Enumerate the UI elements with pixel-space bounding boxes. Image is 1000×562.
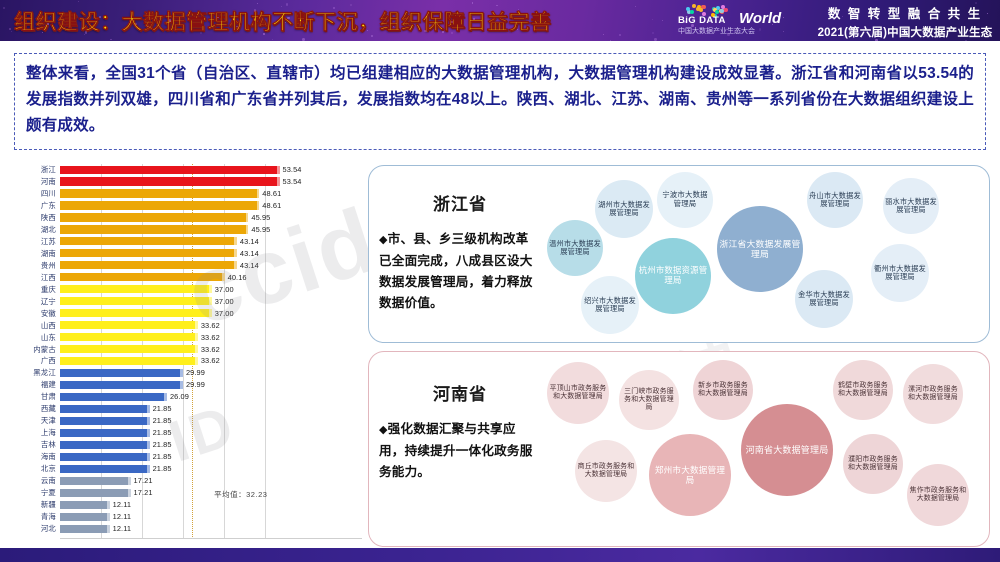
chart-bar [60, 249, 237, 257]
chart-bar [60, 525, 110, 533]
chart-category-label: 江西 [12, 272, 56, 284]
chart-value-label: 21.85 [153, 451, 172, 463]
chart-bar-row: 新疆12.11 [60, 499, 362, 511]
chart-bar [60, 513, 110, 521]
chart-bar [60, 369, 183, 377]
chart-bar-row: 河北12.11 [60, 523, 362, 535]
chart-bar [60, 225, 248, 233]
chart-value-label: 21.85 [153, 415, 172, 427]
chart-bar [60, 201, 259, 209]
chart-bar-row: 浙江53.54 [60, 164, 362, 176]
zhejiang-text-block: 浙江省 ◆市、县、乡三级机构改革已全面完成，八成县区设大数据发展管理局，着力释放… [369, 166, 551, 342]
chart-value-label: 33.62 [201, 355, 220, 367]
chart-category-label: 新疆 [12, 499, 56, 511]
zhejiang-bubble: 浙江省大数据发展管理局 [717, 206, 803, 292]
chart-value-label: 21.85 [153, 463, 172, 475]
chart-value-label: 21.85 [153, 439, 172, 451]
henan-title: 河南省 [379, 380, 541, 405]
chart-bar [60, 477, 131, 485]
henan-text-block: 河南省 ◆强化数据汇聚与共享应用，持续提升一体化政务服务能力。 [369, 352, 551, 546]
chart-value-label: 45.95 [251, 224, 270, 236]
zhejiang-bubble: 金华市大数据发展管理局 [795, 270, 853, 328]
chart-plot-area: 平均值：32.23浙江53.54河南53.54四川48.61广东48.61陕西4… [60, 164, 362, 539]
chart-value-label: 29.99 [186, 367, 205, 379]
chart-value-label: 17.21 [134, 475, 153, 487]
chart-bar [60, 393, 167, 401]
chart-category-label: 湖南 [12, 248, 56, 260]
chart-value-label: 12.11 [113, 511, 131, 523]
logo-world-text: World [739, 10, 781, 27]
zhejiang-bubble-cluster: 温州市大数据发展管理局湖州市大数据发展管理局绍兴市大数据发展管理局宁波市大数据管… [545, 166, 985, 342]
henan-bubble: 商丘市政务服务和大数据管理局 [575, 440, 637, 502]
chart-category-label: 陕西 [12, 212, 56, 224]
chart-category-label: 北京 [12, 463, 56, 475]
chart-bar-row: 重庆37.00 [60, 284, 362, 296]
chart-bar [60, 213, 248, 221]
zhejiang-bullet-icon: ◆ [379, 234, 388, 246]
chart-bar [60, 261, 237, 269]
zhejiang-bubble: 温州市大数据发展管理局 [547, 220, 603, 276]
conference-slogan: 数 智 转 型 融 合 共 生 [815, 3, 995, 22]
chart-bar-row: 云南17.21 [60, 475, 362, 487]
chart-bar-row: 山西33.62 [60, 320, 362, 332]
chart-category-label: 重庆 [12, 284, 56, 296]
henan-bubble: 河南省大数据管理局 [741, 404, 833, 496]
chart-bar-row: 天津21.85 [60, 415, 362, 427]
chart-bar [60, 273, 225, 281]
chart-bar-row: 甘肃26.09 [60, 391, 362, 403]
chart-category-label: 山东 [12, 332, 56, 344]
zhejiang-panel: 浙江省 ◆市、县、乡三级机构改革已全面完成，八成县区设大数据发展管理局，着力释放… [368, 165, 990, 343]
chart-category-label: 河北 [12, 523, 56, 535]
zhejiang-bubble: 舟山市大数据发展管理局 [807, 172, 863, 228]
chart-bar-row: 贵州43.14 [60, 260, 362, 272]
chart-category-label: 四川 [12, 188, 56, 200]
chart-category-label: 辽宁 [12, 296, 56, 308]
chart-bar [60, 501, 110, 509]
logo-sub-text: 中国大数据产业生态大会 [678, 26, 755, 36]
chart-category-label: 江苏 [12, 236, 56, 248]
chart-value-label: 17.21 [134, 487, 153, 499]
chart-category-label: 内蒙古 [12, 344, 56, 356]
chart-bar-row: 广西33.62 [60, 355, 362, 367]
chart-value-label: 37.00 [215, 284, 234, 296]
chart-value-label: 53.54 [283, 176, 302, 188]
chart-bar-row: 西藏21.85 [60, 403, 362, 415]
zhejiang-bubble: 绍兴市大数据发展管理局 [581, 276, 639, 334]
zhejiang-bubble: 丽水市大数据发展管理局 [883, 178, 939, 234]
chart-bar [60, 381, 183, 389]
chart-value-label: 48.61 [262, 200, 281, 212]
chart-bar-row: 山东33.62 [60, 332, 362, 344]
chart-value-label: 29.99 [186, 379, 205, 391]
chart-category-label: 广东 [12, 200, 56, 212]
chart-category-label: 上海 [12, 427, 56, 439]
chart-bar [60, 177, 280, 185]
chart-bar-row: 黑龙江29.99 [60, 367, 362, 379]
chart-category-label: 吉林 [12, 439, 56, 451]
summary-text: 整体来看，全国31个省（自治区、直辖市）均已组建相应的大数据管理机构，大数据管理… [26, 61, 974, 139]
chart-bar [60, 309, 212, 317]
henan-bubble: 新乡市政务服务和大数据管理局 [693, 360, 753, 420]
henan-bubble: 焦作市政务服务和大数据管理局 [907, 464, 969, 526]
chart-bar-row: 青海12.11 [60, 511, 362, 523]
conference-branding: 数 智 转 型 融 合 共 生 2021(第六届)中国大数据产业生态大会 [815, 3, 995, 41]
chart-category-label: 西藏 [12, 403, 56, 415]
henan-bubble: 三门峡市政务服务和大数据管理局 [619, 370, 679, 430]
chart-category-label: 河南 [12, 176, 56, 188]
chart-bar-row: 吉林21.85 [60, 439, 362, 451]
chart-value-label: 37.00 [215, 296, 234, 308]
chart-category-label: 安徽 [12, 308, 56, 320]
chart-category-label: 甘肃 [12, 391, 56, 403]
chart-bar [60, 441, 150, 449]
page-title: 组织建设：大数据管理机构不断下沉，组织保障日益完善 [14, 6, 552, 36]
chart-value-label: 21.85 [153, 427, 172, 439]
chart-value-label: 26.09 [170, 391, 189, 403]
chart-value-label: 40.16 [228, 272, 247, 284]
chart-bar [60, 405, 150, 413]
chart-bar [60, 297, 212, 305]
chart-value-label: 45.95 [251, 212, 270, 224]
chart-category-label: 云南 [12, 475, 56, 487]
henan-bubble: 郑州市大数据管理局 [649, 434, 731, 516]
henan-bubble: 平顶山市政务服务和大数据管理局 [547, 362, 609, 424]
zhejiang-bubble: 宁波市大数据管理局 [657, 172, 713, 228]
chart-category-label: 贵州 [12, 260, 56, 272]
zhejiang-description: ◆市、县、乡三级机构改革已全面完成，八成县区设大数据发展管理局，着力释放数据价值… [379, 229, 541, 314]
chart-bar [60, 453, 150, 461]
chart-category-label: 海南 [12, 451, 56, 463]
chart-category-label: 广西 [12, 355, 56, 367]
henan-bubble: 濮阳市政务服务和大数据管理局 [843, 434, 903, 494]
chart-bar-row: 安徽37.00 [60, 308, 362, 320]
chart-value-label: 33.62 [201, 332, 220, 344]
chart-bar-row: 陕西45.95 [60, 212, 362, 224]
chart-bar [60, 429, 150, 437]
chart-value-label: 37.00 [215, 308, 234, 320]
chart-bar-row: 上海21.85 [60, 427, 362, 439]
henan-bullet-icon: ◆ [379, 424, 388, 436]
chart-bar-row: 四川48.61 [60, 188, 362, 200]
chart-bar-row: 江西40.16 [60, 272, 362, 284]
henan-bubble: 鹤壁市政务服务和大数据管理局 [833, 360, 893, 420]
chart-value-label: 43.14 [240, 236, 259, 248]
zhejiang-body-text: 市、县、乡三级机构改革已全面完成，八成县区设大数据发展管理局，着力释放数据价值。 [379, 232, 533, 310]
henan-panel: 河南省 ◆强化数据汇聚与共享应用，持续提升一体化政务服务能力。 平顶山市政务服务… [368, 351, 990, 547]
zhejiang-bubble: 杭州市数据资源管理局 [635, 238, 711, 314]
chart-category-label: 浙江 [12, 164, 56, 176]
chart-category-label: 福建 [12, 379, 56, 391]
chart-bar-row: 河南53.54 [60, 176, 362, 188]
chart-bar-row: 湖北45.95 [60, 224, 362, 236]
henan-bubble: 漯河市政务服务和大数据管理局 [903, 364, 963, 424]
chart-bar [60, 345, 198, 353]
conference-name: 2021(第六届)中国大数据产业生态大会 [815, 24, 995, 41]
chart-bar [60, 417, 150, 425]
henan-description: ◆强化数据汇聚与共享应用，持续提升一体化政务服务能力。 [379, 419, 541, 483]
chart-value-label: 12.11 [113, 523, 131, 535]
chart-bar-row: 宁夏17.21 [60, 487, 362, 499]
chart-category-label: 湖北 [12, 224, 56, 236]
chart-bar [60, 166, 280, 174]
chart-bar [60, 489, 131, 497]
chart-bar-row: 湖南43.14 [60, 248, 362, 260]
chart-category-label: 青海 [12, 511, 56, 523]
chart-value-label: 53.54 [283, 164, 302, 176]
chart-value-label: 33.62 [201, 320, 220, 332]
bigdata-world-logo: BiG DATA World 中国大数据产业生态大会 [676, 4, 796, 38]
slide-page: 组织建设：大数据管理机构不断下沉，组织保障日益完善 BiG DATA World… [0, 0, 1000, 562]
summary-callout: 整体来看，全国31个省（自治区、直辖市）均已组建相应的大数据管理机构，大数据管理… [14, 53, 986, 150]
zhejiang-bubble: 湖州市大数据发展管理局 [595, 180, 653, 238]
chart-bar [60, 285, 212, 293]
chart-category-label: 天津 [12, 415, 56, 427]
chart-category-label: 山西 [12, 320, 56, 332]
chart-value-label: 48.61 [262, 188, 281, 200]
zhejiang-bubble: 衢州市大数据发展管理局 [871, 244, 929, 302]
chart-value-label: 43.14 [240, 260, 259, 272]
chart-category-label: 黑龙江 [12, 367, 56, 379]
chart-bar-row: 江苏43.14 [60, 236, 362, 248]
chart-value-label: 43.14 [240, 248, 259, 260]
chart-bar-row: 海南21.85 [60, 451, 362, 463]
chart-value-label: 21.85 [153, 403, 172, 415]
chart-value-label: 12.11 [113, 499, 131, 511]
chart-bar-row: 福建29.99 [60, 379, 362, 391]
henan-body-text: 强化数据汇聚与共享应用，持续提升一体化政务服务能力。 [379, 422, 533, 479]
chart-bar [60, 321, 198, 329]
chart-bar [60, 465, 150, 473]
chart-category-label: 宁夏 [12, 487, 56, 499]
chart-bar-row: 广东48.61 [60, 200, 362, 212]
chart-baseline [60, 538, 362, 539]
zhejiang-title: 浙江省 [379, 190, 541, 215]
chart-bar [60, 237, 237, 245]
chart-bar [60, 189, 259, 197]
slide-footer [0, 548, 1000, 562]
chart-bar-row: 辽宁37.00 [60, 296, 362, 308]
slide-header: 组织建设：大数据管理机构不断下沉，组织保障日益完善 BiG DATA World… [0, 0, 1000, 41]
province-index-bar-chart: 平均值：32.23浙江53.54河南53.54四川48.61广东48.61陕西4… [12, 160, 362, 545]
chart-value-label: 33.62 [201, 344, 220, 356]
chart-bar-row: 北京21.85 [60, 463, 362, 475]
chart-bar-row: 内蒙古33.62 [60, 344, 362, 356]
henan-bubble-cluster: 平顶山市政务服务和大数据管理局三门峡市政务服务和大数据管理局新乡市政务服务和大数… [545, 352, 985, 546]
chart-bar [60, 333, 198, 341]
chart-bar [60, 357, 198, 365]
